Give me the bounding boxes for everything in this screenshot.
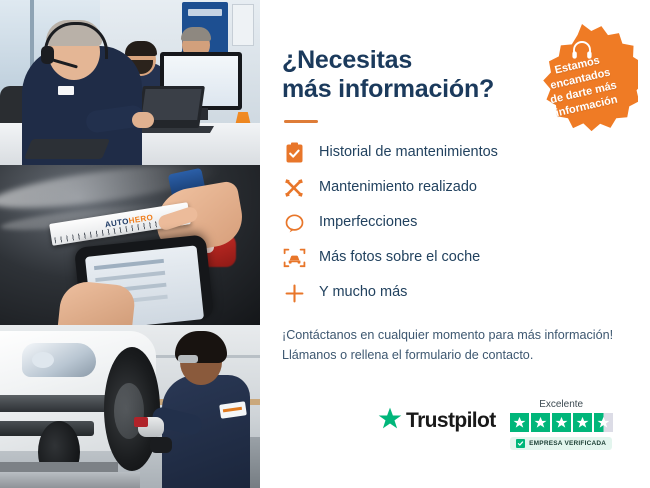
feature-label: Mantenimiento realizado: [319, 179, 477, 196]
speech-bubble-icon: [282, 211, 306, 235]
heading-divider: [284, 120, 318, 123]
feature-list: Historial de mantenimientos M: [282, 141, 628, 305]
clipboard-check-icon: [282, 141, 306, 165]
status-badge: Estamos encantados de darte más informac…: [526, 24, 638, 136]
trustpilot-logo: Trustpilot: [378, 399, 496, 435]
star-half: [594, 413, 613, 432]
wall-poster-secondary: [232, 4, 254, 46]
agent-hand: [132, 112, 154, 128]
star-filled: [531, 413, 550, 432]
trustpilot-rating[interactable]: Trustpilot Excelente: [378, 399, 613, 450]
verified-company-badge: EMPRESA VERIFICADA: [510, 437, 612, 450]
verified-label: EMPRESA VERIFICADA: [529, 440, 606, 447]
contact-info-banner: AUTOHERO: [0, 0, 650, 488]
list-item: Imperfecciones: [282, 211, 628, 235]
car-headlight: [22, 343, 96, 377]
car-lift-platform: [0, 472, 140, 488]
trustpilot-star-icon: [378, 407, 402, 435]
trustpilot-wordmark: Trustpilot: [406, 409, 496, 433]
desk-tablet: [24, 139, 110, 159]
trustpilot-rating-label: Excelente: [539, 399, 583, 410]
feature-label: Más fotos sobre el coche: [319, 249, 480, 266]
mechanic-safety-glasses: [178, 355, 198, 363]
list-item: Historial de mantenimientos: [282, 141, 628, 165]
feature-label: Imperfecciones: [319, 214, 417, 231]
mechanic-photo: [0, 325, 260, 488]
list-item: Más fotos sobre el coche: [282, 246, 628, 270]
list-item: Mantenimiento realizado: [282, 176, 628, 200]
mechanic-body: [162, 375, 250, 488]
star-filled: [573, 413, 592, 432]
agent-name-badge: [58, 86, 74, 95]
trustpilot-stars: [510, 413, 613, 432]
trustpilot-score-block: Excelente: [510, 399, 613, 450]
photo-collage: AUTOHERO: [0, 0, 260, 488]
star-filled: [510, 413, 529, 432]
tools-icon: [282, 176, 306, 200]
car-inspection-photo: AUTOHERO: [0, 165, 260, 325]
feature-label: Historial de mantenimientos: [319, 144, 498, 161]
list-item: Y mucho más: [282, 281, 628, 305]
contact-line-2: Llámanos o rellena el formulario de cont…: [282, 348, 533, 362]
car-photo-frame-icon: [282, 246, 306, 270]
car-lift-arm: [0, 462, 118, 472]
background-person-3-hair: [181, 27, 211, 41]
car-grille-upper: [0, 395, 108, 412]
mechanic-tool: [134, 417, 148, 427]
call-center-photo: [0, 0, 260, 165]
banner-content: ¿Necesitas más información? Historial de…: [260, 0, 650, 488]
contact-line-1: ¡Contáctanos en cualquier momento para m…: [282, 328, 613, 342]
heading-line-1: ¿Necesitas: [282, 46, 412, 74]
contact-paragraph: ¡Contáctanos en cualquier momento para m…: [282, 326, 628, 365]
feature-label: Y mucho más: [319, 284, 407, 301]
background-person-2-hair: [125, 41, 157, 56]
heading-line-2: más información?: [282, 75, 494, 103]
verified-check-icon: [516, 439, 525, 448]
star-filled: [552, 413, 571, 432]
plus-icon: [282, 281, 306, 305]
mechanic-glove-second: [150, 437, 172, 453]
